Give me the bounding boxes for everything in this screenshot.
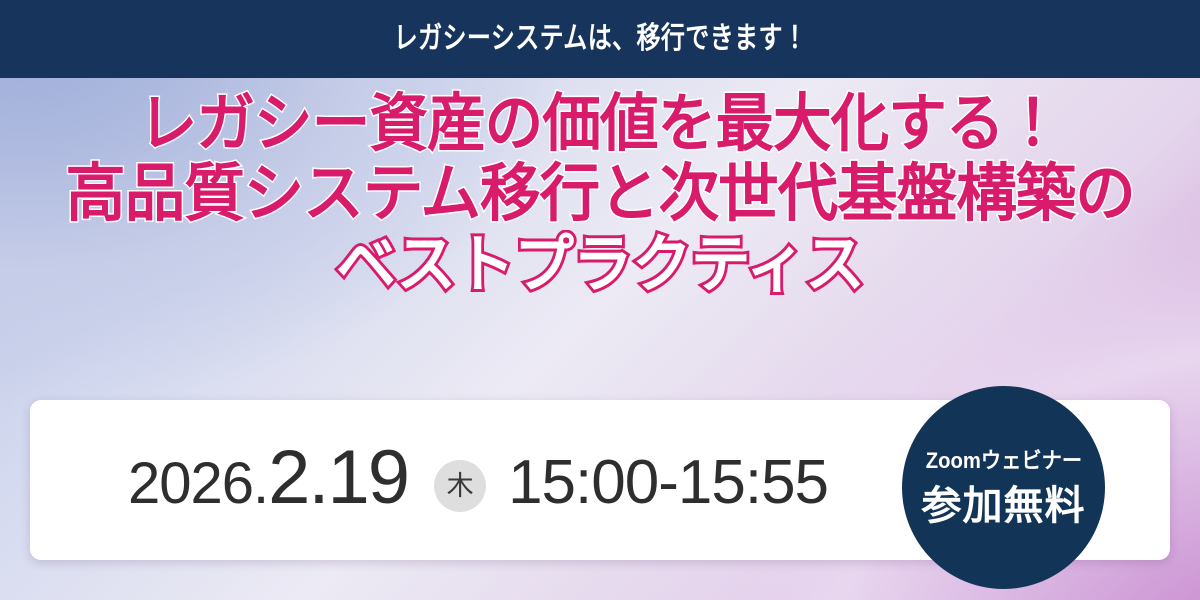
event-datetime: 2026. 2.19 木 15:00-15:55 — [128, 440, 828, 521]
event-weekday-badge: 木 — [434, 460, 486, 512]
headline-line-1: レガシー資産の価値を最大化する！ — [42, 92, 1158, 156]
headline-line-2: 高品質システム移行と次世代基盤構築の — [24, 162, 1176, 226]
webinar-banner: レガシーシステムは、移行できます！ レガシー資産の価値を最大化する！ 高品質シス… — [0, 0, 1200, 600]
headline-block: レガシー資産の価値を最大化する！ 高品質システム移行と次世代基盤構築の ベストプ… — [0, 92, 1200, 297]
headline-line-3: ベストプラクティス — [30, 233, 1170, 297]
event-month-day: 2.19 — [268, 440, 408, 516]
top-banner-strip: レガシーシステムは、移行できます！ — [0, 0, 1200, 78]
event-year: 2026. — [128, 455, 268, 513]
free-badge-main-label: 参加無料 — [922, 486, 1086, 526]
event-time: 15:00-15:55 — [508, 452, 828, 514]
free-badge-platform-label: Zoomウェビナー — [925, 450, 1081, 472]
top-banner-text: レガシーシステムは、移行できます！ — [393, 24, 807, 54]
free-participation-badge: Zoomウェビナー 参加無料 — [902, 386, 1105, 589]
